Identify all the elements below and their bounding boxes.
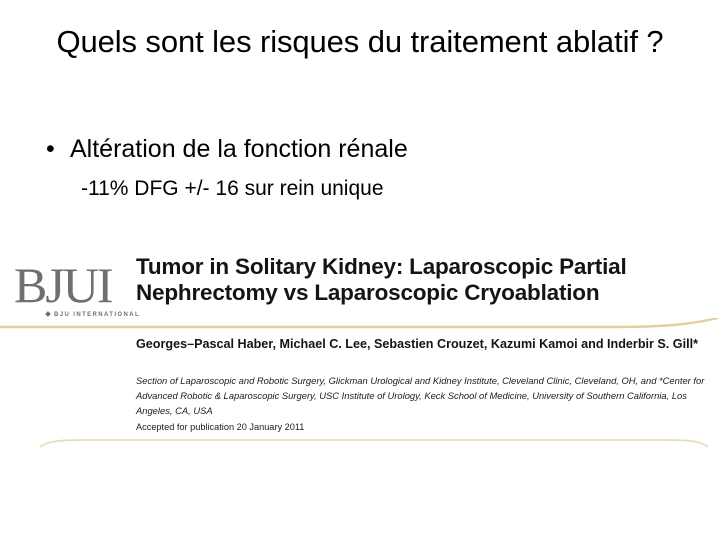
slide-canvas: Quels sont les risques du traitement abl… [0,0,720,540]
article-authors: Georges–Pascal Haber, Michael C. Lee, Se… [136,336,702,353]
slide-body: • Altération de la fonction rénale -11% … [0,134,720,203]
journal-article-clipping: BJUI BJU INTERNATIONAL Tumor in Solitary… [0,248,720,460]
bjui-logo-subtitle: BJU INTERNATIONAL [46,312,140,318]
bullet-sub-item: -11% DFG +/- 16 sur rein unique [0,176,720,202]
bjui-logo: BJUI BJU INTERNATIONAL [14,258,144,330]
bjui-logo-wordmark: BJUI [14,260,112,310]
bullet-item-label: Altération de la fonction rénale [70,135,408,163]
decorative-rule-bottom [38,436,710,448]
rule-bottom-svg [38,437,710,448]
article-accepted-date: Accepted for publication 20 January 2011 [136,422,304,434]
diamond-icon [45,311,51,317]
slide-title: Quels sont les risques du traitement abl… [40,22,680,63]
bjui-logo-subtitle-label: BJU INTERNATIONAL [54,312,140,318]
bullet-marker-icon: • [46,134,55,165]
article-title: Tumor in Solitary Kidney: Laparoscopic P… [136,254,702,307]
article-affiliations: Section of Laparoscopic and Robotic Surg… [136,373,706,419]
bullet-list-item: • Altération de la fonction rénale [0,134,720,165]
